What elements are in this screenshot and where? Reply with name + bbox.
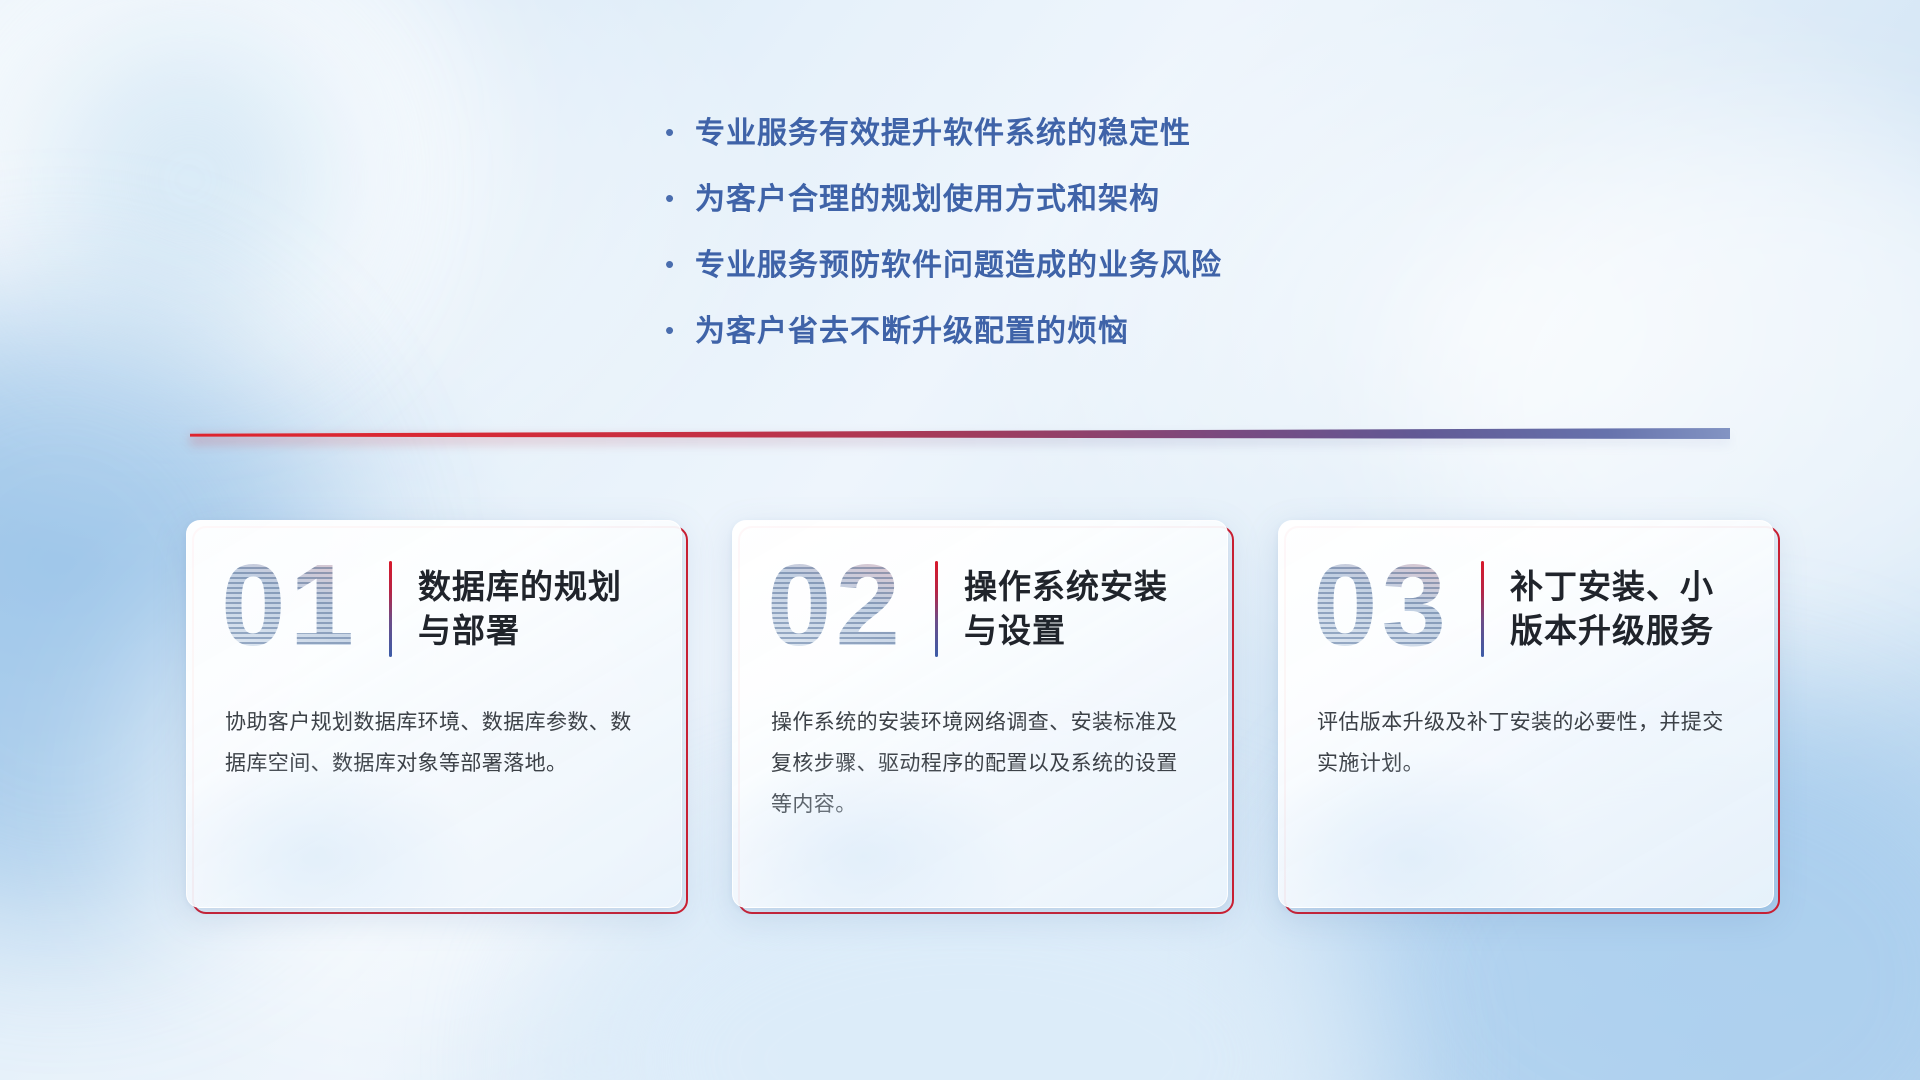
card-surface: 02 操作系统安装与设置 操作系统的安装环境网络调查、安装标准及复核步骤、驱动程…	[732, 520, 1228, 908]
card-number-watermark: 03	[1313, 547, 1477, 663]
card-title-rule	[389, 561, 392, 657]
service-card-group: 01 数据库的规划与部署 协助客户规划数据库环境、数据库参数、数据库空间、数据库…	[186, 520, 1774, 908]
card-title-rule	[935, 561, 938, 657]
card-surface: 03 补丁安装、小版本升级服务 评估版本升级及补丁安装的必要性，并提交实施计划。	[1278, 520, 1774, 908]
background-blob	[40, 30, 340, 330]
card-header: 02 操作系统安装与设置	[733, 521, 1227, 697]
list-item: • 专业服务有效提升软件系统的稳定性	[665, 108, 1445, 174]
bullet-dot-icon: •	[665, 251, 695, 277]
list-item: • 专业服务预防软件问题造成的业务风险	[665, 240, 1445, 306]
list-item: • 为客户合理的规划使用方式和架构	[665, 174, 1445, 240]
card-body-text: 操作系统的安装环境网络调查、安装标准及复核步骤、驱动程序的配置以及系统的设置等内…	[733, 697, 1227, 826]
bullet-text: 为客户省去不断升级配置的烦恼	[695, 306, 1129, 350]
bullet-dot-icon: •	[665, 185, 695, 211]
bullet-text: 专业服务预防软件问题造成的业务风险	[695, 240, 1222, 284]
card-title: 操作系统安装与设置	[964, 565, 1197, 653]
card-header: 01 数据库的规划与部署	[187, 521, 681, 697]
card-title: 补丁安装、小版本升级服务	[1510, 565, 1743, 653]
card-header: 03 补丁安装、小版本升级服务	[1279, 521, 1773, 697]
bullet-text: 为客户合理的规划使用方式和架构	[695, 174, 1160, 218]
card-surface: 01 数据库的规划与部署 协助客户规划数据库环境、数据库参数、数据库空间、数据库…	[186, 520, 682, 908]
card-number-watermark: 01	[221, 547, 385, 663]
service-card[interactable]: 02 操作系统安装与设置 操作系统的安装环境网络调查、安装标准及复核步骤、驱动程…	[732, 520, 1228, 908]
card-title-rule	[1481, 561, 1484, 657]
list-item: • 为客户省去不断升级配置的烦恼	[665, 306, 1445, 372]
card-body-text: 协助客户规划数据库环境、数据库参数、数据库空间、数据库对象等部署落地。	[187, 697, 681, 785]
service-card[interactable]: 01 数据库的规划与部署 协助客户规划数据库环境、数据库参数、数据库空间、数据库…	[186, 520, 682, 908]
benefits-bullet-list: • 专业服务有效提升软件系统的稳定性 • 为客户合理的规划使用方式和架构 • 专…	[665, 108, 1445, 372]
section-divider	[190, 424, 1730, 444]
slide-canvas: • 专业服务有效提升软件系统的稳定性 • 为客户合理的规划使用方式和架构 • 专…	[0, 0, 1920, 1080]
bullet-text: 专业服务有效提升软件系统的稳定性	[695, 108, 1191, 152]
card-title: 数据库的规划与部署	[418, 565, 651, 653]
bullet-dot-icon: •	[665, 317, 695, 343]
service-card[interactable]: 03 补丁安装、小版本升级服务 评估版本升级及补丁安装的必要性，并提交实施计划。	[1278, 520, 1774, 908]
background-blob	[0, 0, 460, 400]
bullet-dot-icon: •	[665, 119, 695, 145]
card-number-watermark: 02	[767, 547, 931, 663]
card-body-text: 评估版本升级及补丁安装的必要性，并提交实施计划。	[1279, 697, 1773, 785]
